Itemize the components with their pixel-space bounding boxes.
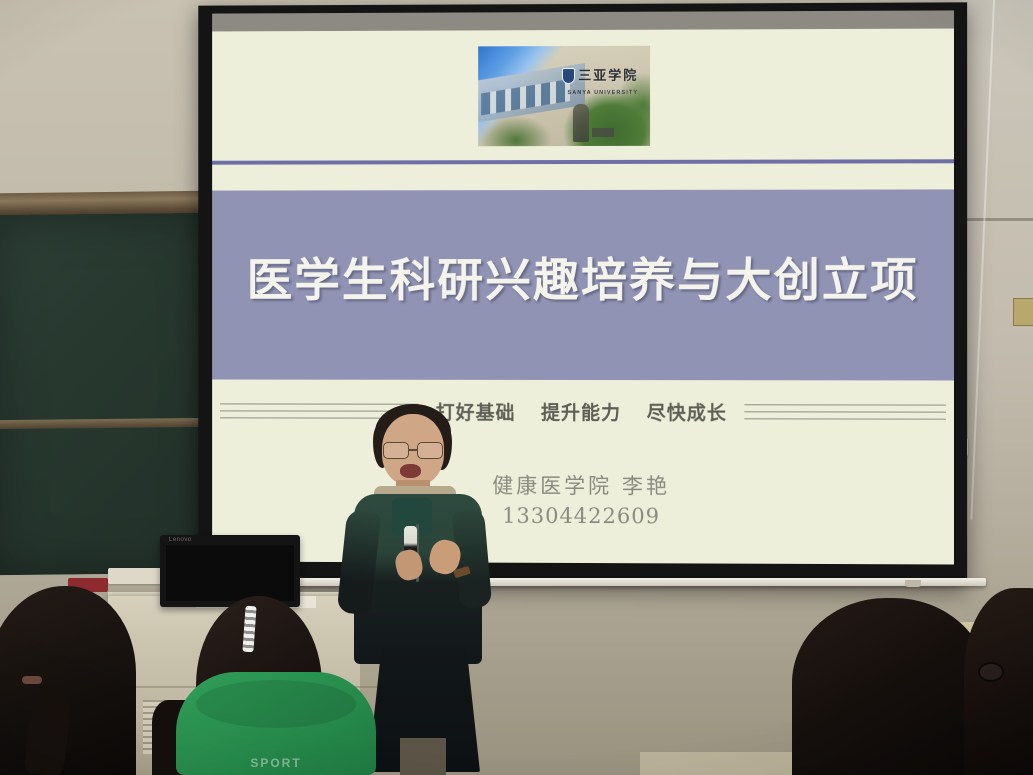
university-name-cn: 三亚学院	[578, 69, 638, 82]
wall-seam	[963, 218, 1033, 221]
campus-photo: 三亚学院 SANYA UNIVERSITY	[478, 46, 650, 146]
audience-student-3	[792, 598, 988, 775]
lecture-photo-scene: 三亚学院 SANYA UNIVERSITY 医学生科研兴趣培养与大创立项	[0, 0, 1033, 775]
hair-tie-icon	[22, 676, 42, 684]
projection-screen: 三亚学院 SANYA UNIVERSITY 医学生科研兴趣培养与大创立项	[198, 2, 967, 585]
podium-monitor: Lenovo	[160, 535, 300, 607]
photo-statue	[573, 104, 589, 142]
slide-title: 医学生科研兴趣培养与大创立项	[212, 244, 954, 310]
presenter-legs	[400, 738, 446, 775]
chalkboard	[0, 213, 214, 575]
hoodie-print-text: SPORT	[176, 756, 376, 770]
campus-photo-image: 三亚学院 SANYA UNIVERSITY	[478, 46, 650, 146]
screen-pull-tab[interactable]	[905, 580, 921, 587]
screen-roller-bar	[186, 578, 986, 586]
glasses-icon	[382, 442, 444, 457]
slide-subtitle-row: 打好基础 提升能力 尽快成长	[212, 397, 954, 430]
presenter-phone: 13304422609	[212, 503, 954, 529]
presenter-mouth	[400, 464, 421, 478]
projection-screen-surface: 三亚学院 SANYA UNIVERSITY 医学生科研兴趣培养与大创立项	[212, 10, 954, 564]
wall-plaque-icon	[1013, 298, 1033, 326]
slide-presenter-block: 健康医学院 李艳 13304422609	[212, 469, 954, 529]
audience-student-1	[0, 586, 136, 775]
university-name-en: SANYA UNIVERSITY	[567, 90, 638, 96]
university-logo: 三亚学院	[562, 68, 638, 84]
hoodie-fold	[196, 680, 356, 728]
subtitle-part-3: 尽快成长	[638, 398, 736, 425]
monitor-screen	[166, 545, 294, 601]
presentation-slide: 三亚学院 SANYA UNIVERSITY 医学生科研兴趣培养与大创立项	[212, 29, 954, 565]
audience-glasses-icon	[978, 662, 1004, 682]
slide-accent-rule	[212, 159, 954, 164]
monitor-brand-label: Lenovo	[169, 537, 192, 543]
photo-sign	[592, 128, 614, 137]
subtitle-part-2: 提升能力	[532, 398, 630, 425]
presenter-name: 健康医学院 李艳	[212, 469, 954, 501]
slide-subtitle: 打好基础 提升能力 尽快成长	[212, 397, 954, 425]
desk-papers-left	[108, 568, 166, 584]
shield-icon	[562, 68, 575, 84]
